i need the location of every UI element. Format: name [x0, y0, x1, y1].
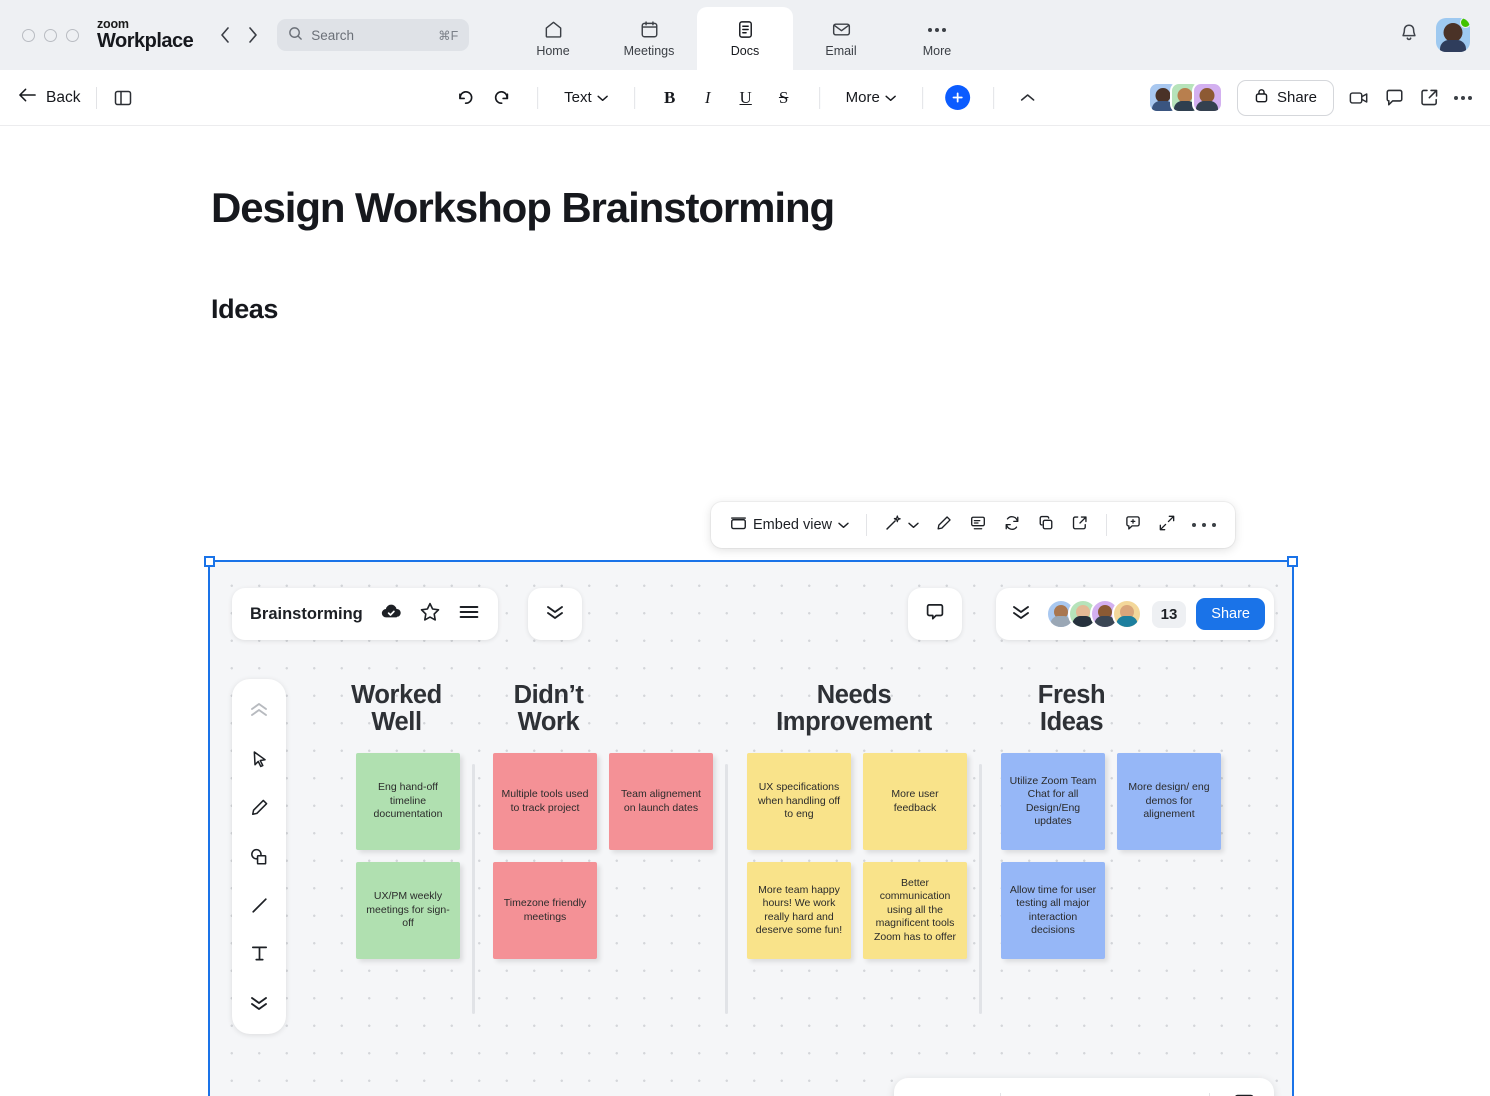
expand-button[interactable] [1151, 509, 1183, 541]
refresh-icon [1003, 514, 1021, 536]
underline-button[interactable]: U [727, 81, 765, 115]
chevron-down-icon [908, 517, 919, 533]
chevron-down-icon [838, 517, 849, 533]
more-format-dropdown[interactable]: More [836, 81, 906, 115]
search-icon [288, 26, 303, 44]
redo-icon[interactable] [483, 81, 521, 115]
open-external-button[interactable] [1064, 509, 1096, 541]
window-maximize-button[interactable] [66, 29, 79, 42]
divider [537, 87, 538, 109]
duplicate-button[interactable] [1030, 509, 1062, 541]
divider [819, 87, 820, 109]
plus-circle-icon [945, 85, 970, 110]
italic-button[interactable]: I [689, 81, 727, 115]
ellipsis-icon[interactable] [1185, 509, 1223, 541]
search-placeholder: Search [311, 28, 354, 43]
text-style-dropdown[interactable]: Text [554, 81, 618, 115]
whiteboard-embed[interactable]: Brainstorming [208, 560, 1294, 1096]
resize-handle-top-left[interactable] [204, 556, 215, 567]
text-style-label: Text [564, 89, 592, 106]
window-minimize-button[interactable] [44, 29, 57, 42]
section-heading-ideas: Ideas [211, 294, 1490, 325]
collaborator-avatars[interactable] [1148, 82, 1223, 113]
magic-wand-icon [884, 514, 902, 536]
more-format-label: More [846, 89, 880, 106]
tab-email-label: Email [825, 44, 856, 58]
envelope-icon [831, 19, 852, 40]
divider [634, 87, 635, 109]
divider [922, 87, 923, 109]
lock-icon [1254, 87, 1269, 108]
share-label: Share [1277, 89, 1317, 106]
app-title-bar: zoom Workplace Search ⌘F Home Meetings [0, 0, 1490, 70]
tab-more[interactable]: More [889, 7, 985, 70]
bold-label: B [664, 88, 675, 108]
undo-icon[interactable] [445, 81, 483, 115]
window-controls[interactable] [22, 29, 79, 42]
divider [1106, 514, 1107, 536]
divider [866, 514, 867, 536]
tab-more-label: More [923, 44, 951, 58]
share-button[interactable]: Share [1237, 80, 1334, 116]
search-input[interactable]: Search ⌘F [277, 19, 469, 51]
avatar-body [1440, 40, 1466, 52]
home-icon [543, 19, 564, 40]
titlebar-right-actions [1398, 18, 1474, 52]
embed-view-label: Embed view [753, 517, 832, 533]
resize-handle-top-right[interactable] [1287, 556, 1298, 567]
bold-button[interactable]: B [651, 81, 689, 115]
tab-home-label: Home [536, 44, 569, 58]
document-icon [735, 19, 756, 40]
strikethrough-button[interactable]: S [765, 81, 803, 115]
expand-arrows-icon [1158, 514, 1176, 536]
tab-meetings-label: Meetings [624, 44, 675, 58]
chevron-down-icon [597, 89, 608, 106]
tab-docs[interactable]: Docs [697, 7, 793, 70]
insert-button[interactable] [939, 81, 977, 115]
copy-icon [1037, 514, 1055, 536]
avatar-body [1196, 101, 1218, 113]
chevron-down-icon [885, 89, 896, 106]
ellipsis-icon [928, 20, 946, 40]
document-actions: Share [1148, 80, 1472, 116]
search-shortcut: ⌘F [438, 28, 458, 43]
back-label: Back [46, 89, 80, 107]
underline-label: U [740, 88, 752, 108]
back-button[interactable]: Back [18, 87, 80, 108]
avatar[interactable] [1192, 82, 1223, 113]
embed-selection-frame[interactable] [208, 560, 1294, 1096]
present-button[interactable] [962, 509, 994, 541]
avatar[interactable] [1436, 18, 1470, 52]
edit-button[interactable] [928, 509, 960, 541]
add-comment-icon [1124, 514, 1142, 536]
formatting-controls: Text B I U S More [445, 81, 1045, 115]
add-comment-button[interactable] [1117, 509, 1149, 541]
chevron-up-icon[interactable] [1010, 89, 1045, 106]
status-badge [1460, 18, 1470, 28]
present-screen-icon [969, 514, 987, 536]
open-external-icon [1071, 514, 1089, 536]
arrow-left-icon [18, 87, 37, 108]
tab-home[interactable]: Home [505, 7, 601, 70]
embed-view-dropdown[interactable]: Embed view [723, 509, 856, 541]
strikethrough-label: S [779, 88, 788, 108]
divider [96, 87, 97, 109]
document-toolbar: Back Text B I U S [0, 70, 1490, 126]
share-external-icon[interactable] [1419, 87, 1440, 108]
zoom-workplace-logo: zoom Workplace [97, 18, 193, 51]
pencil-icon [935, 514, 953, 536]
page-title: Design Workshop Brainstorming [211, 184, 1490, 232]
divider [993, 87, 994, 109]
refresh-button[interactable] [996, 509, 1028, 541]
tab-docs-label: Docs [731, 44, 759, 58]
calendar-icon [639, 19, 660, 40]
window-close-button[interactable] [22, 29, 35, 42]
ai-assist-button[interactable] [877, 509, 926, 541]
brand-workplace: Workplace [97, 31, 193, 51]
ellipsis-icon[interactable] [1454, 88, 1472, 108]
nav-back-button[interactable] [211, 21, 239, 49]
tab-meetings[interactable]: Meetings [601, 7, 697, 70]
italic-label: I [705, 88, 711, 108]
comment-icon[interactable] [1384, 87, 1405, 108]
tab-email[interactable]: Email [793, 7, 889, 70]
bell-icon[interactable] [1398, 22, 1420, 49]
embed-frame-icon [730, 516, 747, 535]
video-camera-icon[interactable] [1348, 87, 1370, 109]
main-nav-tabs: Home Meetings Docs Email More [505, 0, 985, 70]
nav-forward-button[interactable] [239, 21, 267, 49]
panel-toggle-icon[interactable] [113, 88, 133, 108]
embed-toolbar: Embed view [711, 502, 1235, 548]
document-body: Design Workshop Brainstorming Ideas Embe… [0, 184, 1490, 325]
